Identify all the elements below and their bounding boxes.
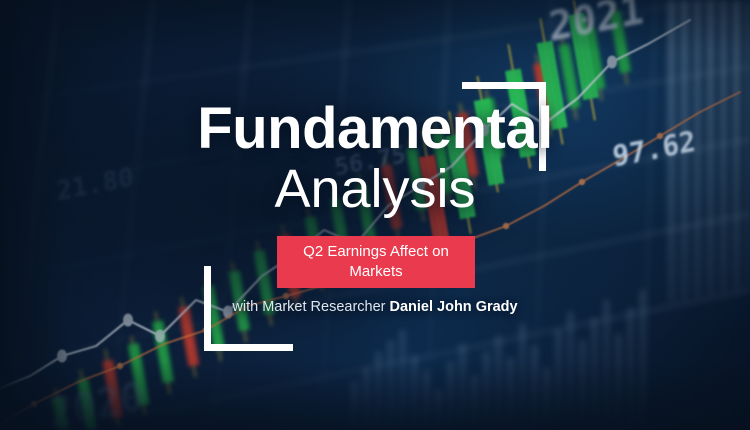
bracket-bottom-left-horizontal: [204, 344, 293, 351]
presenter-credit: with Market ResearcherDaniel John Grady: [0, 299, 750, 315]
presenter-role-label: with Market Researcher: [232, 299, 385, 315]
page-title: Fundamental: [0, 100, 750, 158]
page-subtitle: Analysis: [0, 162, 750, 216]
banner-content: Fundamental Analysis Q2 Earnings Affect …: [0, 0, 750, 430]
topic-banner-label: Q2 Earnings Affect on Markets: [285, 242, 467, 283]
bracket-top-right-horizontal: [462, 82, 546, 89]
fundamental-analysis-banner: 2021 21.80 56.75 97.62 2020 Fundamental …: [0, 0, 750, 430]
presenter-name: Daniel John Grady: [389, 299, 517, 315]
topic-banner: Q2 Earnings Affect on Markets: [277, 236, 475, 288]
